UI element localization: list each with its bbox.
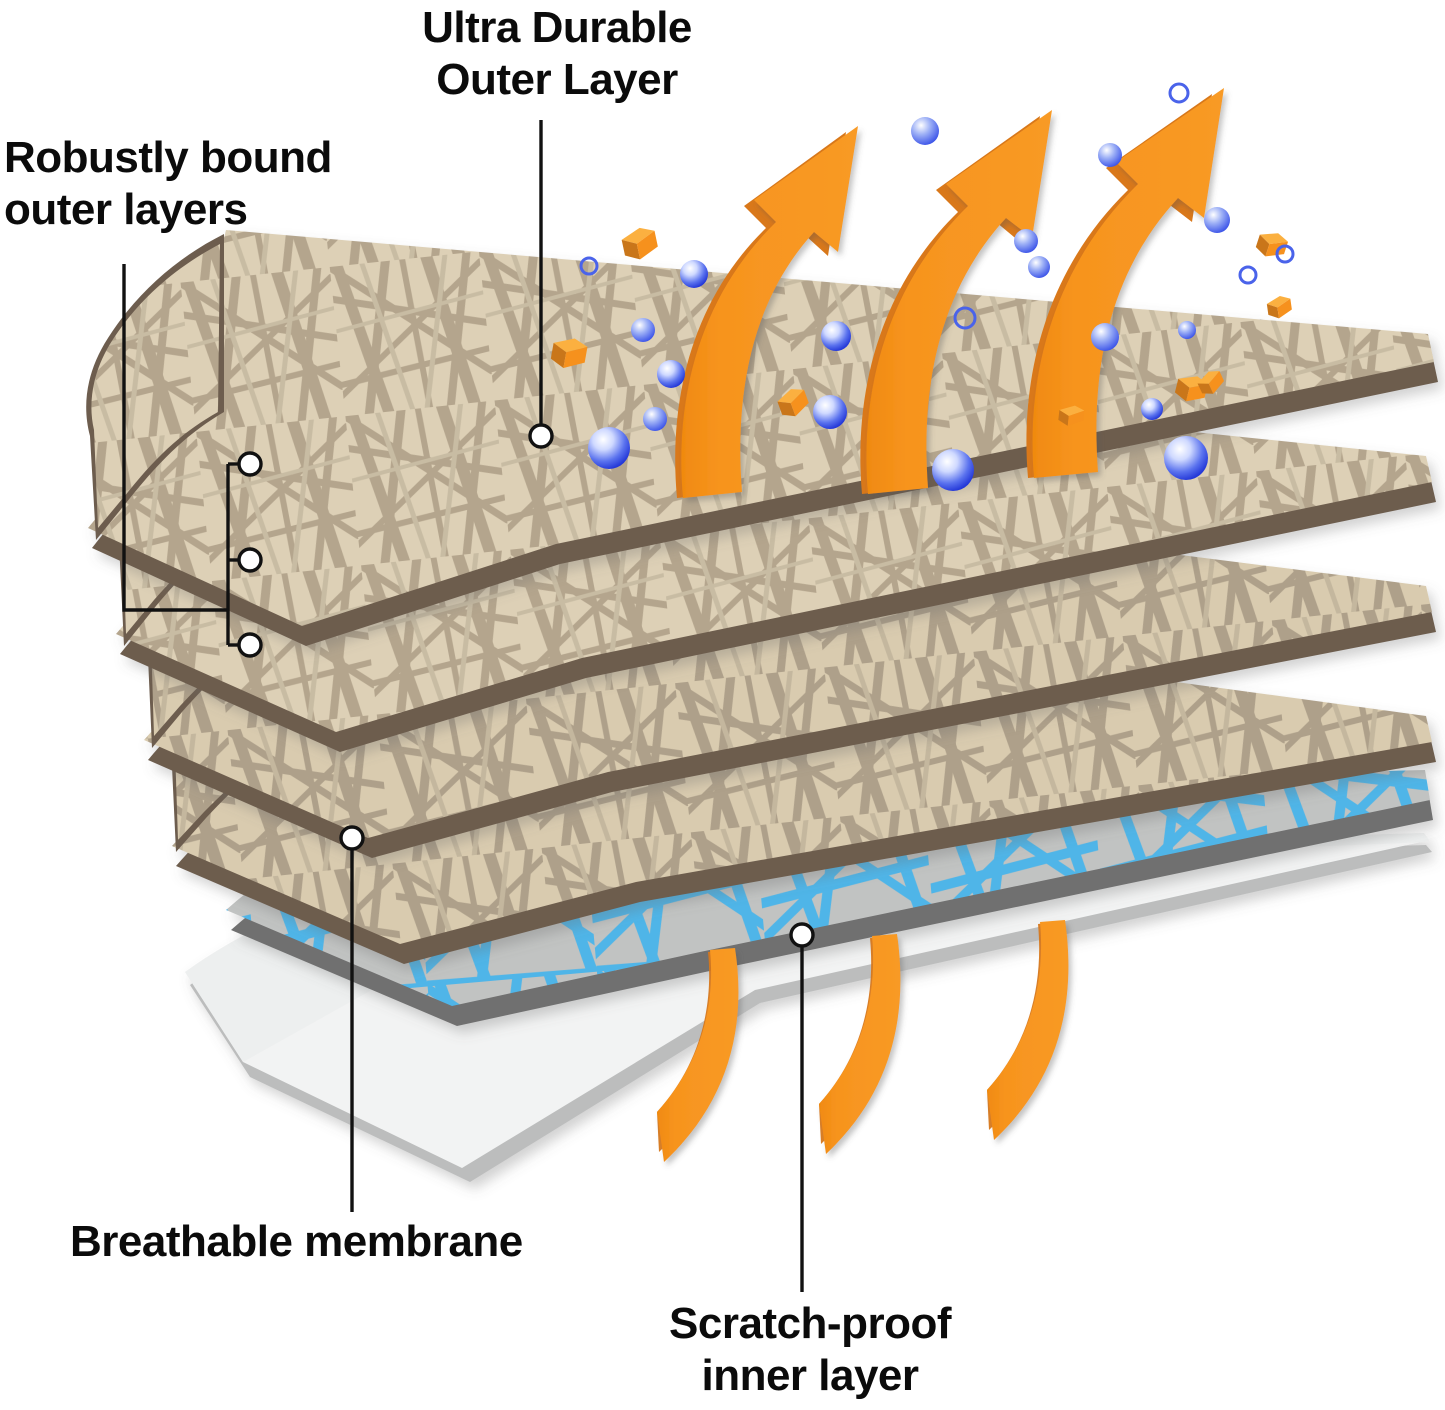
label-breathable-membrane: Breathable membrane	[70, 1216, 670, 1268]
label-scratch-proof-inner-layer: Scratch-proof inner layer	[600, 1298, 1020, 1402]
label-robustly-bound-outer-layers: Robustly bound outer layers	[4, 132, 424, 236]
label-ultra-durable-outer-layer: Ultra Durable Outer Layer	[372, 2, 742, 106]
